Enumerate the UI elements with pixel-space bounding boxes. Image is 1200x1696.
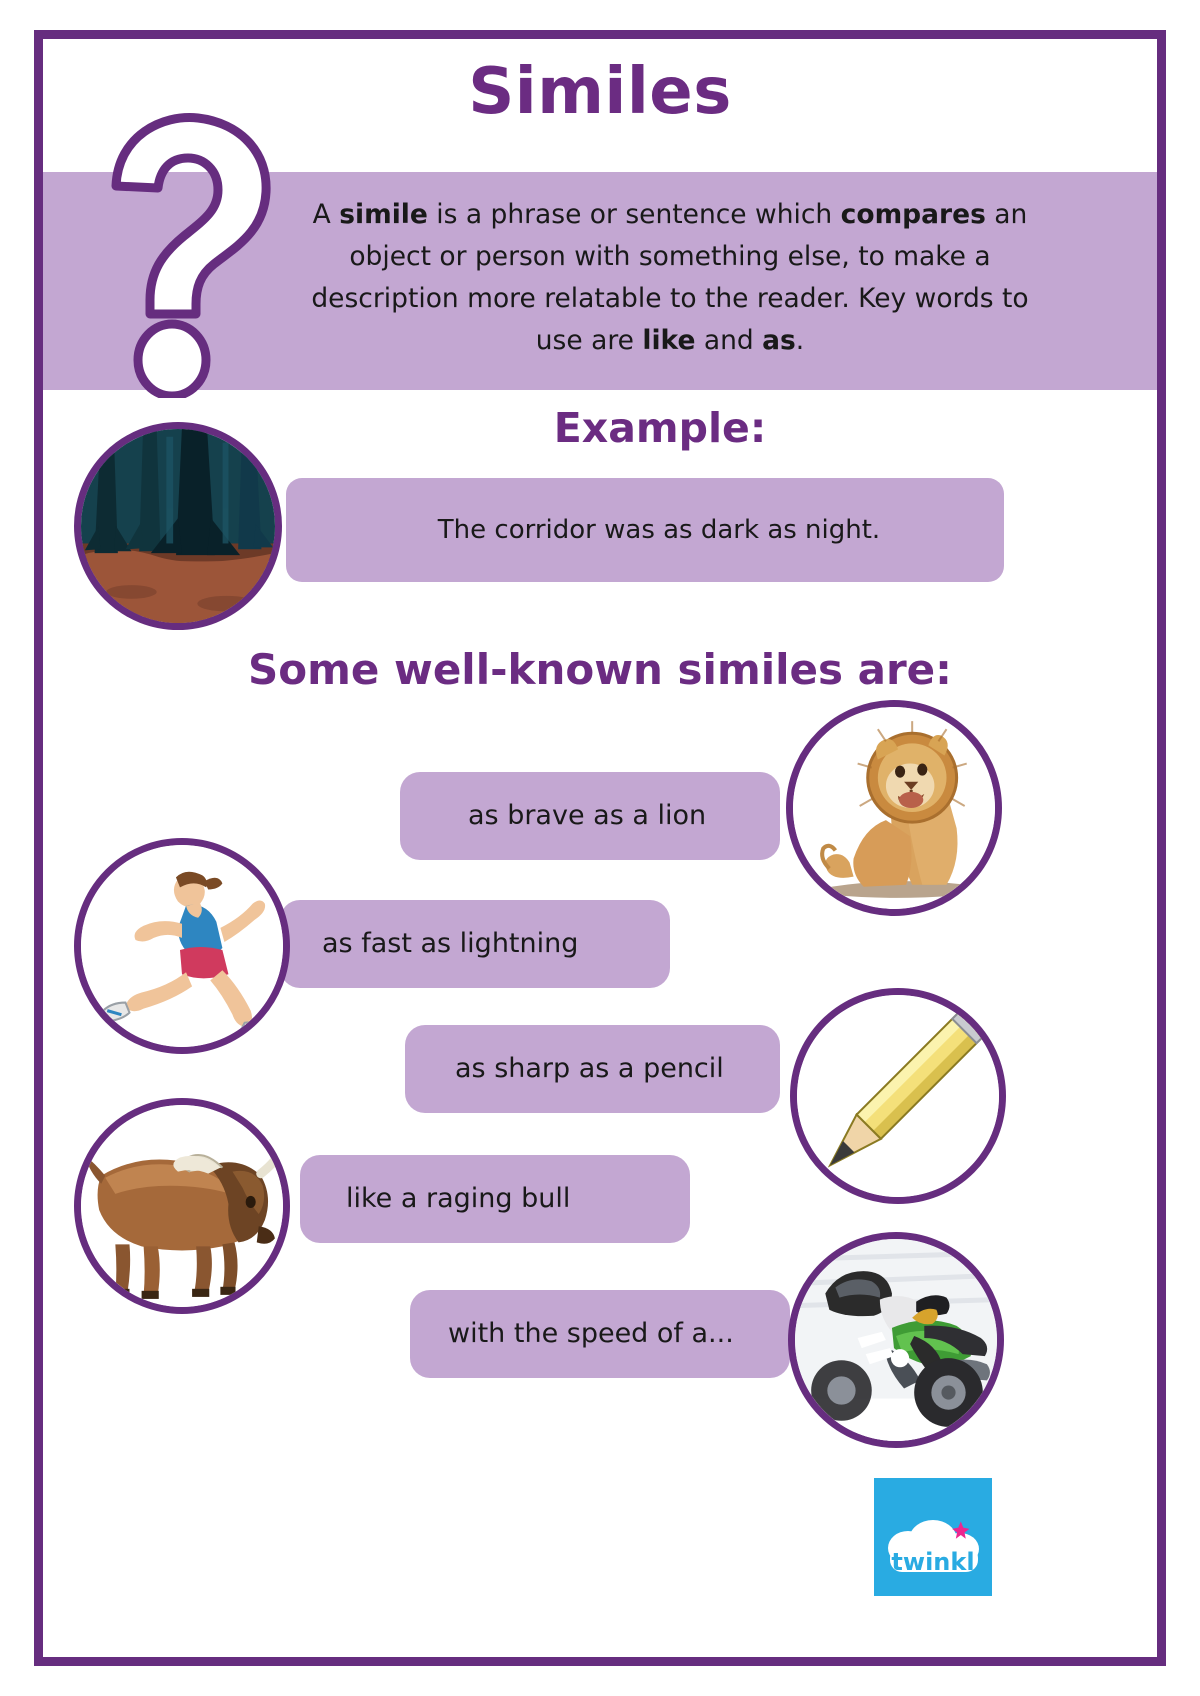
simile-text-3: as sharp as a pencil [405, 1025, 780, 1113]
example-text: The corridor was as dark as night. [286, 478, 1004, 582]
example-pill: The corridor was as dark as night. [286, 478, 1004, 582]
definition-part: A [313, 199, 340, 230]
simile-text-5: with the speed of a... [410, 1290, 790, 1378]
simile-poster: Similes A simile is a phrase or sentence… [0, 0, 1200, 1696]
pencil-illustration [790, 988, 1006, 1204]
simile-pill-2: as fast as lightning [280, 900, 670, 988]
definition-text: A simile is a phrase or sentence which c… [290, 194, 1050, 362]
simile-pill-3: as sharp as a pencil [405, 1025, 780, 1113]
definition-bold-simile: simile [339, 199, 428, 230]
simile-pill-1: as brave as a lion [400, 772, 780, 860]
simile-text-1: as brave as a lion [400, 772, 780, 860]
question-mark-icon [88, 108, 278, 398]
dark-forest-illustration [74, 422, 282, 630]
runner-illustration [74, 838, 290, 1054]
twinkl-wordmark: twinkl [891, 1548, 974, 1576]
definition-bold-as: as [762, 325, 796, 356]
simile-text-2: as fast as lightning [280, 900, 670, 988]
simile-pill-4: like a raging bull [300, 1155, 690, 1243]
motorbike-illustration [788, 1232, 1004, 1448]
example-heading: Example: [280, 404, 1040, 452]
simile-pill-5: with the speed of a... [410, 1290, 790, 1378]
definition-part: . [796, 325, 804, 356]
definition-part: and [695, 325, 762, 356]
bull-illustration [74, 1098, 290, 1314]
definition-part: is a phrase or sentence which [428, 199, 841, 230]
definition-bold-compares: compares [841, 199, 986, 230]
twinkl-logo[interactable]: twinkl [874, 1478, 992, 1596]
lion-illustration [786, 700, 1002, 916]
simile-text-4: like a raging bull [300, 1155, 690, 1243]
section-heading: Some well-known similes are: [100, 645, 1100, 694]
definition-bold-like: like [642, 325, 695, 356]
